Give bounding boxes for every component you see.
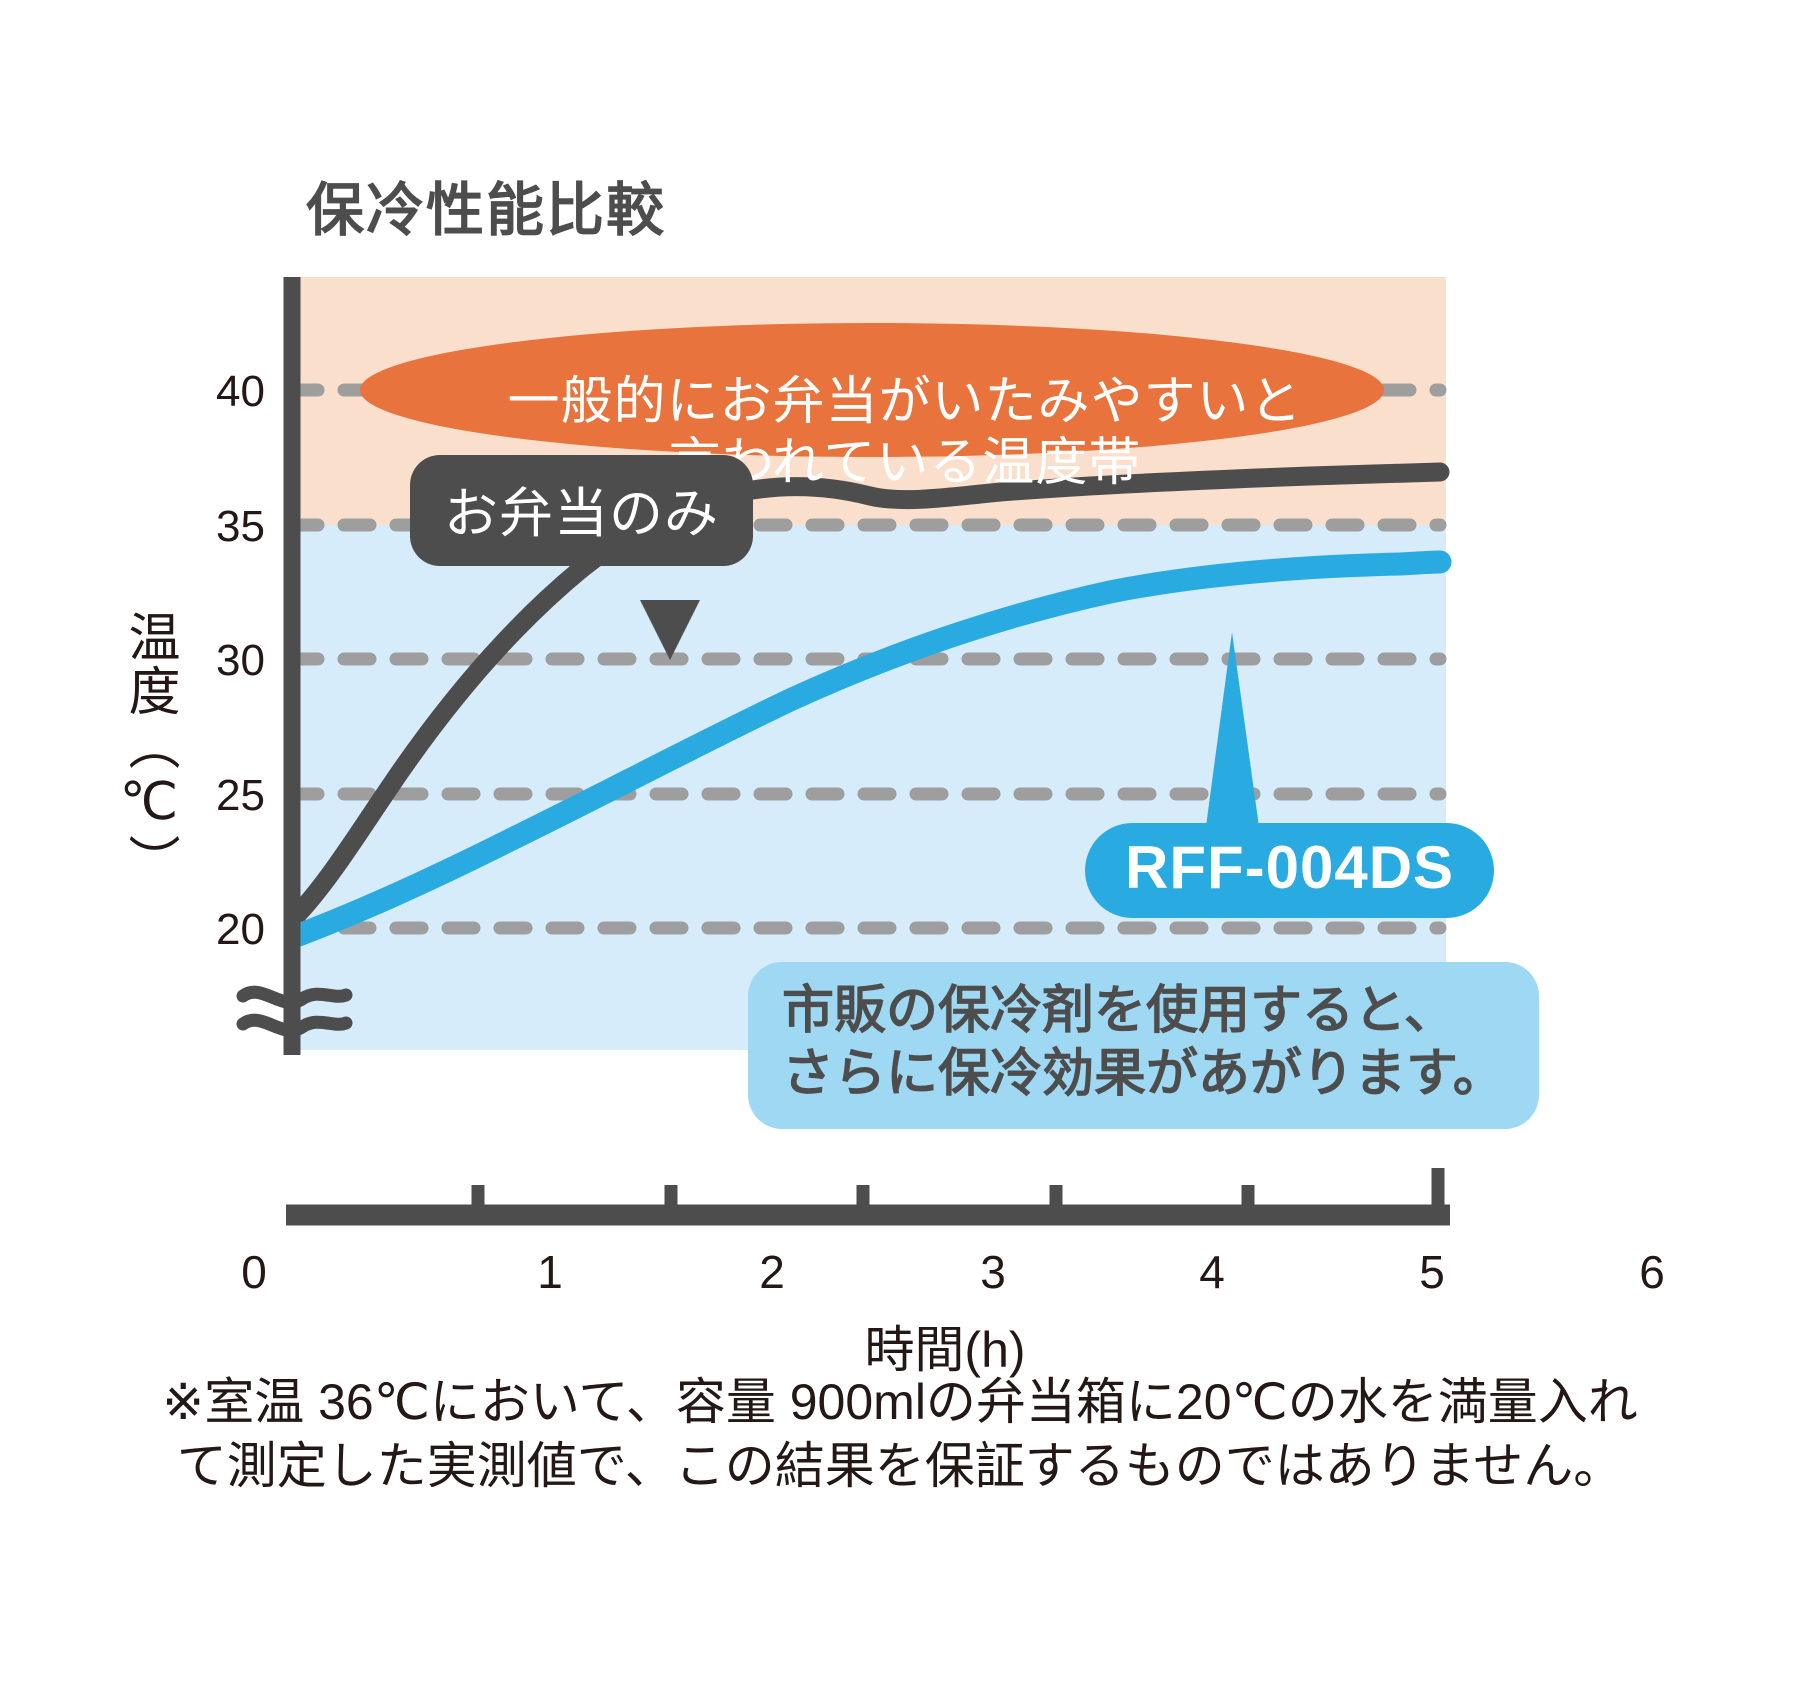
x-tick-2: 2 xyxy=(759,1245,785,1299)
x-tick-labels: 0 1 2 3 4 5 6 xyxy=(0,1245,1800,1305)
x-tick-6: 6 xyxy=(1639,1245,1665,1299)
footnote-line2: て測定した実測値で、この結果を保証するものではありません。 xyxy=(0,1434,1800,1498)
y-tick-30: 30 xyxy=(216,636,265,685)
footnote: ※室温 36℃において、容量 900mlの弁当箱に20℃の水を満量入れ て測定し… xyxy=(0,1370,1800,1498)
coolant-note-box: 市販の保冷剤を使用すると、 さらに保冷効果があがります。 xyxy=(748,962,1539,1129)
y-tick-20: 20 xyxy=(216,905,265,954)
x-tick-4: 4 xyxy=(1199,1245,1225,1299)
coolant-note-line1: 市販の保冷剤を使用すると、 xyxy=(782,980,1505,1043)
series-label-product: RFF-004DS xyxy=(1085,823,1494,918)
x-tick-0: 0 xyxy=(241,1245,267,1299)
coolant-note-line2: さらに保冷効果があがります。 xyxy=(782,1043,1505,1106)
y-tick-40: 40 xyxy=(216,367,265,416)
y-tick-25: 25 xyxy=(216,771,265,820)
chart-page: 保冷性能比較 xyxy=(0,0,1800,1700)
y-axis-label: 温度（℃） xyxy=(123,610,175,888)
danger-band-line1: 一般的にお弁当がいたみやすいと xyxy=(400,372,1410,433)
x-tick-3: 3 xyxy=(980,1245,1006,1299)
footnote-line1: ※室温 36℃において、容量 900mlの弁当箱に20℃の水を満量入れ xyxy=(0,1370,1800,1434)
x-tick-marks xyxy=(478,1168,1438,1207)
x-tick-1: 1 xyxy=(537,1245,563,1299)
y-tick-35: 35 xyxy=(216,502,265,551)
x-tick-5: 5 xyxy=(1419,1245,1445,1299)
series-label-bento: お弁当のみ xyxy=(410,455,753,566)
